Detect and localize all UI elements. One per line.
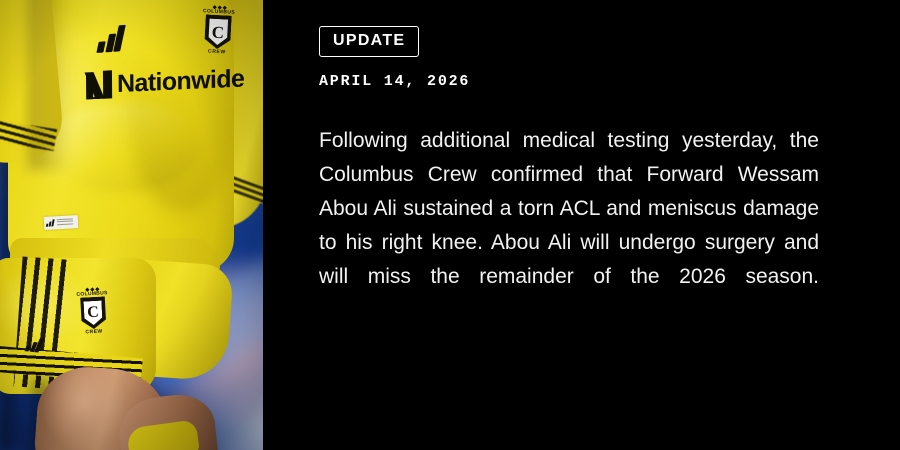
crest-shield-icon: C bbox=[204, 14, 232, 49]
crest-monogram: C bbox=[87, 305, 99, 322]
jock-tag-lines bbox=[57, 218, 73, 226]
adidas-logo-icon-small bbox=[46, 219, 54, 226]
player-photo: Nationwide COLUMBUS C CREW bbox=[0, 0, 263, 450]
adidas-jock-tag bbox=[44, 215, 79, 230]
announcement-body: Following additional medical testing yes… bbox=[319, 124, 819, 328]
jersey-sleeve-shadow bbox=[28, 0, 70, 170]
crest-city-label: COLUMBUS bbox=[73, 291, 111, 298]
crew-crest-chest: COLUMBUS C CREW bbox=[197, 5, 240, 56]
publish-date: APRIL 14, 2026 bbox=[319, 74, 470, 89]
crest-shield-icon: C bbox=[80, 296, 107, 329]
status-badge: UPDATE bbox=[319, 26, 419, 57]
content-panel: UPDATE APRIL 14, 2026 Following addition… bbox=[263, 0, 900, 450]
adidas-logo-icon bbox=[96, 25, 124, 53]
crest-monogram: C bbox=[211, 23, 224, 41]
player-figure: Nationwide COLUMBUS C CREW bbox=[0, 0, 263, 450]
nationwide-wordmark: Nationwide bbox=[117, 66, 244, 97]
crew-crest-shorts: COLUMBUS C CREW bbox=[73, 287, 113, 336]
nationwide-eagle-icon bbox=[86, 70, 112, 99]
update-card: Nationwide COLUMBUS C CREW bbox=[0, 0, 900, 450]
adidas-logo-icon-shorts bbox=[25, 337, 41, 352]
